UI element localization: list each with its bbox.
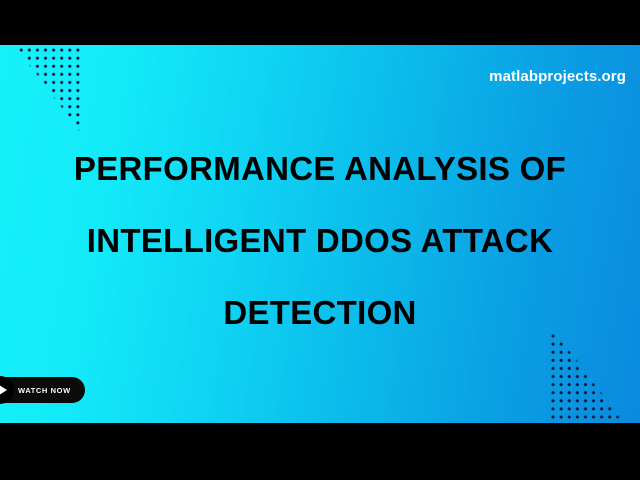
dot-grid-triangle-top-left-icon — [0, 45, 80, 131]
play-icon[interactable] — [0, 376, 14, 404]
title-line-1: PERFORMANCE ANALYSIS OF — [0, 133, 640, 205]
title-line-3: DETECTION — [0, 277, 640, 349]
title-slide: matlabprojects.org PERFORMANCE ANALYSIS … — [0, 45, 640, 423]
watch-now-label: WATCH NOW — [18, 386, 71, 395]
title-line-2: INTELLIGENT DDOS ATTACK — [0, 205, 640, 277]
page-title: PERFORMANCE ANALYSIS OF INTELLIGENT DDOS… — [0, 133, 640, 349]
letterbox-bar-top — [0, 0, 640, 45]
play-triangle-icon — [0, 383, 7, 397]
watermark-text: matlabprojects.org — [489, 68, 626, 85]
watch-now-button[interactable]: WATCH NOW — [0, 377, 85, 403]
video-frame: matlabprojects.org PERFORMANCE ANALYSIS … — [0, 0, 640, 480]
letterbox-bar-bottom — [0, 423, 640, 480]
